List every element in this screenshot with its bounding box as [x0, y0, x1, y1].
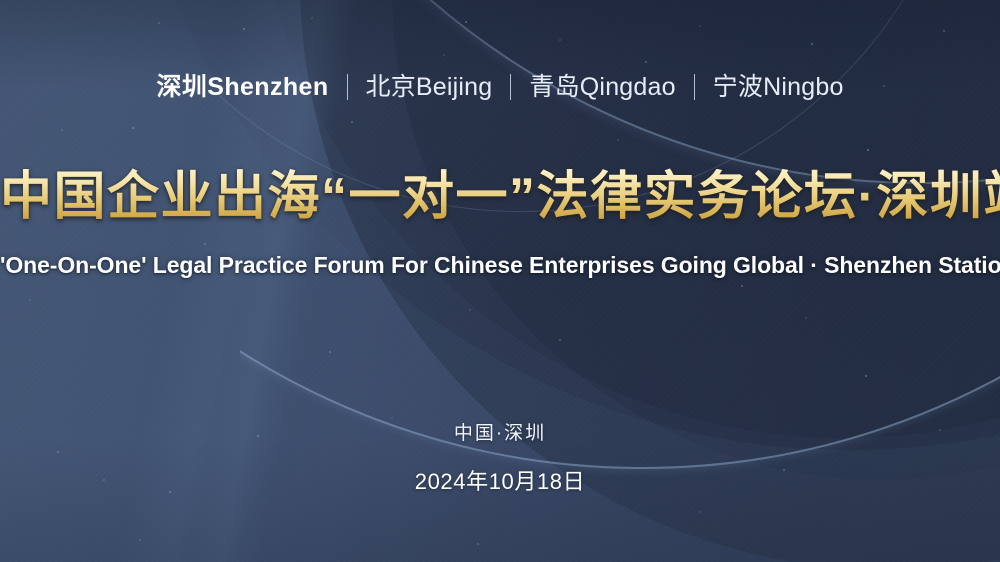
city-shenzhen: 深圳Shenzhen [154, 75, 330, 100]
city-separator-1 [347, 74, 348, 100]
city-separator-3 [694, 74, 695, 100]
event-date: 2024年10月18日 [0, 471, 1000, 493]
event-location: 中国·深圳 [0, 424, 1000, 443]
page-title: 中国企业出海“一对一”法律实务论坛·深圳站 [0, 168, 1000, 226]
event-details: 中国·深圳 2024年10月18日 [0, 424, 1000, 493]
city-separator-2 [510, 74, 511, 100]
city-qingdao: 青岛Qingdao [527, 75, 677, 100]
page-subtitle: 'One-On-One' Legal Practice Forum For Ch… [0, 252, 1000, 280]
city-ningbo: 宁波Ningbo [711, 75, 846, 100]
city-beijing: 北京Beijing [364, 75, 495, 100]
poster-content: 深圳Shenzhen 北京Beijing 青岛Qingdao 宁波Ningbo … [0, 0, 1000, 562]
event-poster: 深圳Shenzhen 北京Beijing 青岛Qingdao 宁波Ningbo … [0, 0, 1000, 562]
city-list: 深圳Shenzhen 北京Beijing 青岛Qingdao 宁波Ningbo [0, 74, 1000, 100]
